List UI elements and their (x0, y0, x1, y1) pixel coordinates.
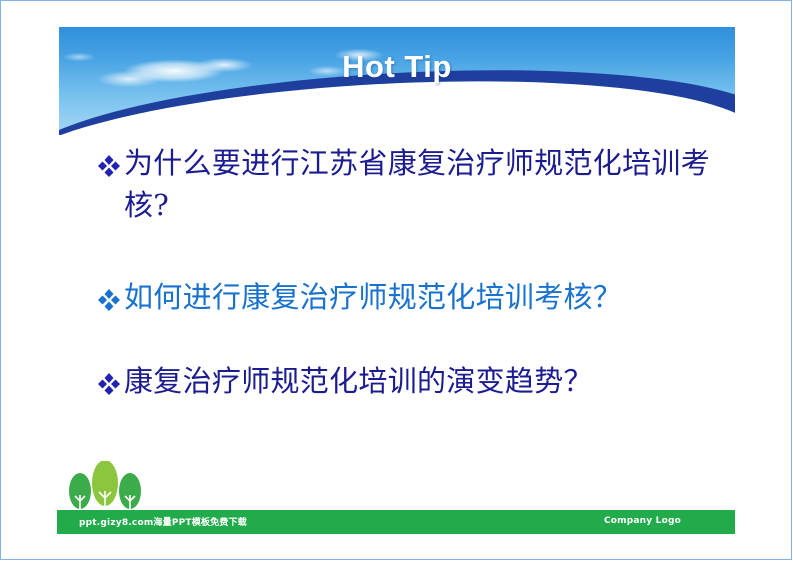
spacer (98, 236, 728, 276)
list-item: 为什么要进行江苏省康复治疗师规范化培训考核? (98, 142, 728, 226)
list-item-label: 为什么要进行江苏省康复治疗师规范化培训考核? (124, 142, 728, 226)
diamond-cluster-bullet-icon (98, 142, 124, 184)
page-title: Hot Tip (59, 49, 735, 85)
three-trees-logo-icon (62, 461, 148, 513)
list-item: 康复治疗师规范化培训的演变趋势？ (98, 360, 728, 402)
diamond-cluster-bullet-icon (98, 276, 124, 318)
list-item-label: 如何进行康复治疗师规范化培训考核？ (124, 276, 728, 318)
list-item: 如何进行康复治疗师规范化培训考核？ (98, 276, 728, 318)
diamond-cluster-bullet-icon (98, 360, 124, 402)
footer-watermark-text: ppt.gizy8.com海量PPT模板免费下载 (79, 515, 247, 528)
header-banner: Hot Tip (59, 27, 735, 135)
spacer (98, 328, 728, 360)
footer-bar: ppt.gizy8.com海量PPT模板免费下载 Company Logo (57, 510, 735, 534)
list-item-label: 康复治疗师规范化培训的演变趋势？ (124, 360, 728, 402)
bullet-list: 为什么要进行江苏省康复治疗师规范化培训考核? 如何进行康复治疗师规范化培训考核？ (98, 142, 728, 412)
slide: Hot Tip 为什么要进行江苏省康复治疗师规范化培训考核? (0, 0, 793, 561)
company-logo-label: Company Logo (604, 516, 681, 526)
